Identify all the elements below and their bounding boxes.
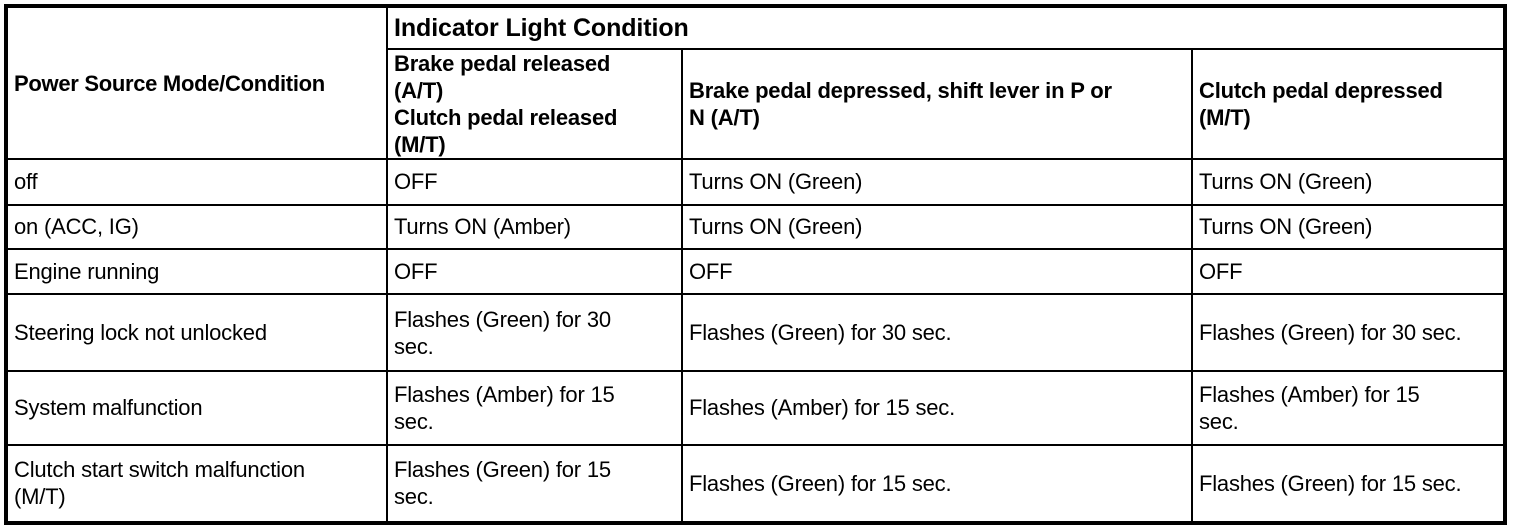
cell-line: Flashes (Green) for 30 sec. <box>689 319 1185 346</box>
cell-clutch-start-switch-brake-depressed: Flashes (Green) for 15 sec. <box>682 445 1192 523</box>
row-label-off: off <box>6 159 387 205</box>
cell-line: Turns ON (Amber) <box>394 213 675 240</box>
cell-line: sec. <box>394 333 675 360</box>
indicator-light-condition-table: Power Source Mode/Condition Indicator Li… <box>4 4 1507 525</box>
cell-line: sec. <box>1199 408 1497 435</box>
table-body: off OFF Turns ON (Green) Turns ON (Green… <box>6 159 1505 523</box>
cell-line: off <box>14 168 380 195</box>
cell-clutch-start-switch-clutch-depressed: Flashes (Green) for 15 sec. <box>1192 445 1505 523</box>
table-header-group-row: Power Source Mode/Condition Indicator Li… <box>6 6 1505 49</box>
column-header-line: (M/T) <box>1199 104 1497 131</box>
row-label-clutch-start-switch-malfunction: Clutch start switch malfunction (M/T) <box>6 445 387 523</box>
row-label-engine-running: Engine running <box>6 249 387 295</box>
cell-line: OFF <box>394 258 675 285</box>
column-header-brake-depressed-shift-p-or-n: Brake pedal depressed, shift lever in P … <box>682 49 1192 159</box>
cell-engine-running-clutch-depressed: OFF <box>1192 249 1505 295</box>
table-header: Power Source Mode/Condition Indicator Li… <box>6 6 1505 159</box>
cell-engine-running-brake-depressed: OFF <box>682 249 1192 295</box>
cell-line: (M/T) <box>14 483 380 510</box>
cell-on-brake-depressed: Turns ON (Green) <box>682 205 1192 249</box>
cell-line: Flashes (Green) for 15 <box>394 456 675 483</box>
cell-line: Turns ON (Green) <box>689 213 1185 240</box>
cell-off-released: OFF <box>387 159 682 205</box>
row-label-system-malfunction: System malfunction <box>6 371 387 445</box>
cell-line: Flashes (Green) for 30 sec. <box>1199 319 1497 346</box>
column-header-line: (M/T) <box>394 131 675 158</box>
cell-clutch-start-switch-released: Flashes (Green) for 15 sec. <box>387 445 682 523</box>
cell-line: Flashes (Green) for 30 <box>394 306 675 333</box>
cell-steering-lock-released: Flashes (Green) for 30 sec. <box>387 294 682 370</box>
cell-line: on (ACC, IG) <box>14 213 380 240</box>
cell-line: Flashes (Green) for 15 sec. <box>1199 470 1497 497</box>
cell-off-brake-depressed: Turns ON (Green) <box>682 159 1192 205</box>
cell-steering-lock-clutch-depressed: Flashes (Green) for 30 sec. <box>1192 294 1505 370</box>
column-header-line: Clutch pedal released <box>394 104 675 131</box>
column-header-clutch-pedal-depressed: Clutch pedal depressed (M/T) <box>1192 49 1505 159</box>
column-header-line: Clutch pedal depressed <box>1199 77 1497 104</box>
table-row: Steering lock not unlocked Flashes (Gree… <box>6 294 1505 370</box>
column-header-line: Brake pedal released <box>394 50 675 77</box>
group-header-indicator-light-condition: Indicator Light Condition <box>387 6 1505 49</box>
table-row: Engine running OFF OFF OFF <box>6 249 1505 295</box>
cell-line: OFF <box>394 168 675 195</box>
cell-line: Flashes (Green) for 15 sec. <box>689 470 1185 497</box>
cell-line: Flashes (Amber) for 15 <box>1199 381 1497 408</box>
column-header-brake-clutch-released: Brake pedal released (A/T) Clutch pedal … <box>387 49 682 159</box>
table-row: off OFF Turns ON (Green) Turns ON (Green… <box>6 159 1505 205</box>
cell-line: Steering lock not unlocked <box>14 319 380 346</box>
cell-line: Turns ON (Green) <box>1199 213 1497 240</box>
cell-line: sec. <box>394 408 675 435</box>
column-header-line: (A/T) <box>394 77 675 104</box>
cell-off-clutch-depressed: Turns ON (Green) <box>1192 159 1505 205</box>
cell-system-malfunction-released: Flashes (Amber) for 15 sec. <box>387 371 682 445</box>
cell-line: Engine running <box>14 258 380 285</box>
cell-engine-running-released: OFF <box>387 249 682 295</box>
cell-steering-lock-brake-depressed: Flashes (Green) for 30 sec. <box>682 294 1192 370</box>
column-header-line: N (A/T) <box>689 104 1185 131</box>
cell-system-malfunction-brake-depressed: Flashes (Amber) for 15 sec. <box>682 371 1192 445</box>
cell-line: sec. <box>394 483 675 510</box>
cell-on-clutch-depressed: Turns ON (Green) <box>1192 205 1505 249</box>
table-row: Clutch start switch malfunction (M/T) Fl… <box>6 445 1505 523</box>
cell-line: Turns ON (Green) <box>689 168 1185 195</box>
cell-line: Flashes (Amber) for 15 sec. <box>689 394 1185 421</box>
row-label-on-acc-ig: on (ACC, IG) <box>6 205 387 249</box>
cell-line: System malfunction <box>14 394 380 421</box>
table-row: on (ACC, IG) Turns ON (Amber) Turns ON (… <box>6 205 1505 249</box>
cell-line: Flashes (Amber) for 15 <box>394 381 675 408</box>
cell-line: OFF <box>689 258 1185 285</box>
cell-on-released: Turns ON (Amber) <box>387 205 682 249</box>
indicator-light-condition-table-container: Power Source Mode/Condition Indicator Li… <box>4 4 1507 525</box>
table-row: System malfunction Flashes (Amber) for 1… <box>6 371 1505 445</box>
cell-line: Clutch start switch malfunction <box>14 456 380 483</box>
cell-line: OFF <box>1199 258 1497 285</box>
cell-system-malfunction-clutch-depressed: Flashes (Amber) for 15 sec. <box>1192 371 1505 445</box>
column-header-line: Brake pedal depressed, shift lever in P … <box>689 77 1185 104</box>
row-label-steering-lock-not-unlocked: Steering lock not unlocked <box>6 294 387 370</box>
cell-line: Turns ON (Green) <box>1199 168 1497 195</box>
row-axis-header: Power Source Mode/Condition <box>6 6 387 159</box>
